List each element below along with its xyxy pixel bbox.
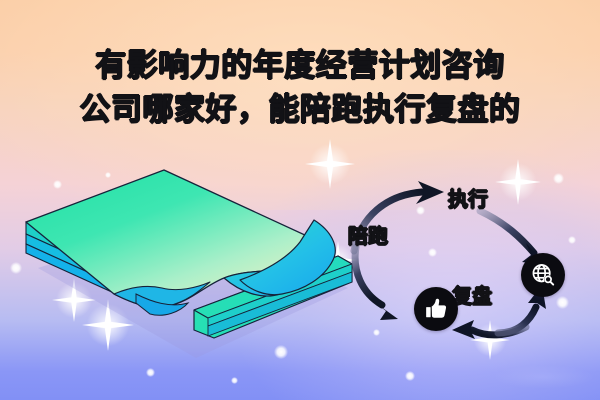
headline-block: 有影响力的年度经营计划咨询 公司哪家好，能陪跑执行复盘的 <box>0 44 600 132</box>
paper-stack-svg <box>18 160 358 375</box>
poster-canvas: 有影响力的年度经营计划咨询 公司哪家好，能陪跑执行复盘的 <box>0 0 600 400</box>
flow-label-accompany: 陪跑 <box>348 227 388 247</box>
sparkle-dot-icon <box>405 371 415 381</box>
faint-watermark <box>496 366 592 388</box>
headline-line-1: 有影响力的年度经营计划咨询 <box>0 44 600 88</box>
flow-label-execute: 执行 <box>448 190 488 210</box>
flow-node-globe[interactable] <box>521 253 565 297</box>
magnifier-part <box>544 275 553 284</box>
arrow-accompany-to-review <box>355 247 398 320</box>
flow-node-thumbs-up[interactable] <box>414 287 458 331</box>
paper-stack-illustration <box>18 160 358 375</box>
globe-search-icon <box>529 261 557 289</box>
process-flow-diagram: 陪跑 执行 复盘 <box>330 165 600 365</box>
sparkle-dot-icon <box>231 377 238 384</box>
thumbs-up-icon <box>422 295 450 323</box>
headline-line-2: 公司哪家好，能陪跑执行复盘的 <box>0 88 600 132</box>
flow-label-review: 复盘 <box>452 287 492 307</box>
